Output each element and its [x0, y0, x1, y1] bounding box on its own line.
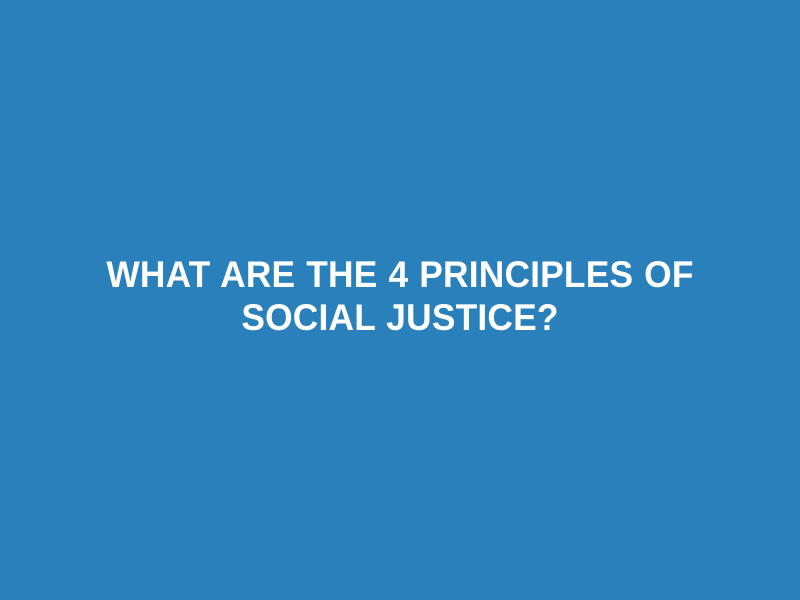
hero-title-container: WHAT ARE THE 4 PRINCIPLES OF SOCIAL JUST…: [55, 253, 745, 339]
page-title: WHAT ARE THE 4 PRINCIPLES OF SOCIAL JUST…: [81, 253, 719, 339]
hero-banner: WHAT ARE THE 4 PRINCIPLES OF SOCIAL JUST…: [0, 0, 800, 600]
